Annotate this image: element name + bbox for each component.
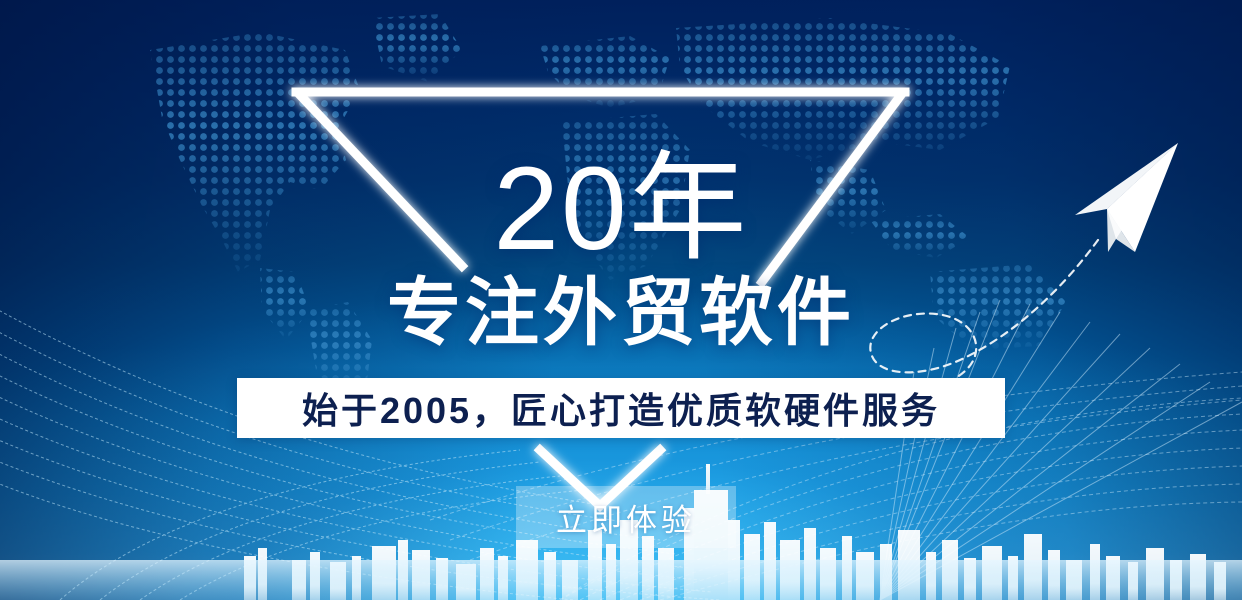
cta-button[interactable]: 立即体验 [516, 486, 736, 548]
cta-button-label: 立即体验 [556, 495, 696, 540]
headline-tagline: 专注外贸软件 [0, 274, 1242, 352]
subtitle-bar: 始于2005，匠心打造优质软硬件服务 [237, 378, 1005, 438]
subtitle-text: 始于2005，匠心打造优质软硬件服务 [302, 382, 940, 434]
headline-block: 20年 专注外贸软件 [0, 150, 1242, 352]
headline-years: 20年 [0, 150, 1242, 268]
promo-banner: 20年 专注外贸软件 始于2005，匠心打造优质软硬件服务 立即体验 [0, 0, 1242, 600]
